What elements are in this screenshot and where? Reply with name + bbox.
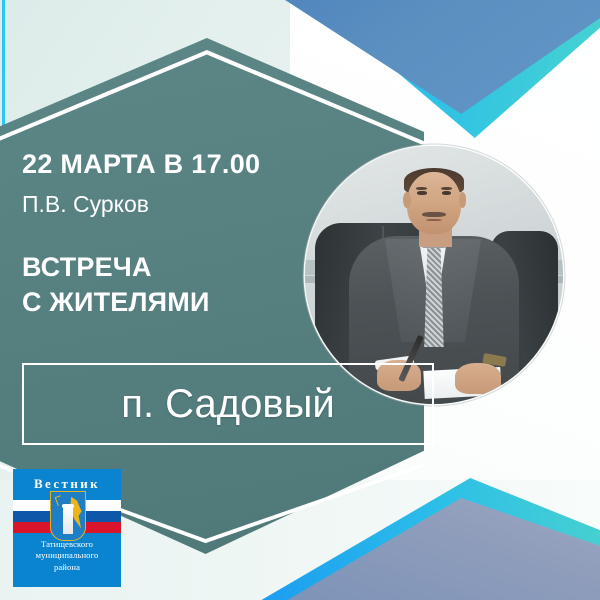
photo-ear-left	[403, 192, 411, 207]
coat-of-arms-icon	[50, 491, 86, 541]
event-text-block: 22 МАРТА В 17.00 П.В. Сурков ВСТРЕЧА С Ж…	[22, 150, 322, 320]
logo-subtitle-line-3: района	[17, 562, 117, 573]
event-headline-line-1: ВСТРЕЧА	[22, 250, 322, 285]
logo-subtitle-line-2: муниципального	[17, 550, 117, 561]
event-headline: ВСТРЕЧА С ЖИТЕЛЯМИ	[22, 250, 322, 319]
logo-title: Вестник	[13, 476, 121, 492]
photo-eye-left	[417, 191, 426, 195]
event-headline-line-2: С ЖИТЕЛЯМИ	[22, 285, 322, 320]
logo-subtitle: Татищевского муниципального района	[13, 539, 121, 573]
event-person-name: П.В. Сурков	[22, 192, 322, 216]
photo-ear-right	[459, 192, 467, 207]
place-name: п. Садовый	[22, 363, 434, 445]
event-date-time: 22 МАРТА В 17.00	[22, 150, 322, 178]
announcement-poster: 22 МАРТА В 17.00 П.В. Сурков ВСТРЕЧА С Ж…	[0, 0, 600, 600]
photo-hand-right	[455, 363, 501, 394]
crest-white-tower	[63, 506, 73, 534]
photo-face	[407, 172, 461, 234]
publication-logo[interactable]: Вестник Татищевского муниципального райо…	[13, 469, 121, 587]
